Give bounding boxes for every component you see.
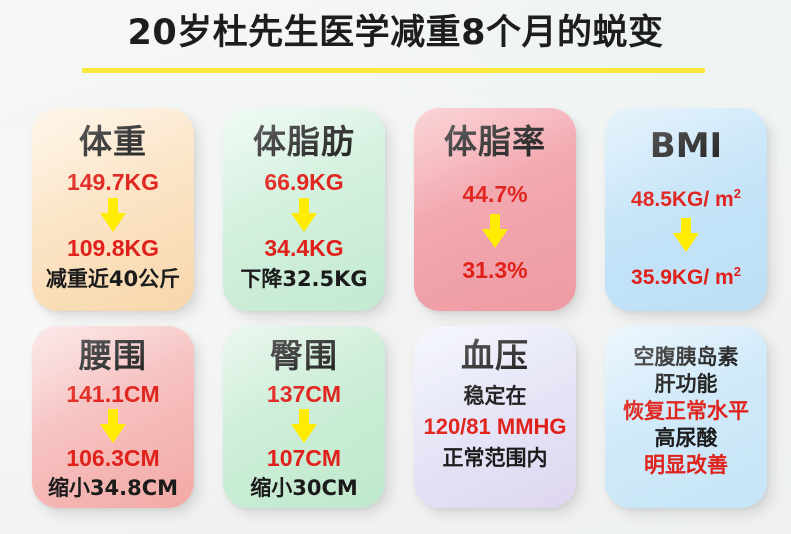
footnote-waist: 缩小34.8CM <box>48 475 178 501</box>
value-before-bmi: 48.5KG/ m2 <box>631 180 741 214</box>
value-after-waist: 106.3CM <box>66 444 159 472</box>
card-title-weight: 体重 <box>79 122 147 162</box>
value-after-bmi: 35.9KG/ m2 <box>631 258 741 292</box>
metrics-grid: 体重 149.7KG 109.8KG 减重近40公斤 体脂肪 66.9KG 34… <box>0 108 791 508</box>
labs-line-4: 高尿酸 <box>655 425 718 451</box>
blood-pressure-reading: 120/81 MMHG <box>423 413 566 441</box>
arrow-head <box>100 213 126 232</box>
value-after-bmi-exponent: 2 <box>734 264 741 279</box>
value-before-bmi-text: 48.5KG/ m <box>631 188 734 211</box>
blood-pressure-line-1: 稳定在 <box>464 383 527 409</box>
card-title-waist: 腰围 <box>79 336 147 376</box>
card-title-body-fat-mass: 体脂肪 <box>253 122 355 162</box>
arrow-head <box>673 233 699 252</box>
footnote-body-fat-mass: 下降32.5KG <box>240 266 367 292</box>
value-before-weight: 149.7KG <box>67 168 159 196</box>
footnote-hip: 缩小30CM <box>250 475 358 501</box>
card-title-bmi: BMI <box>650 126 722 166</box>
labs-line-2: 肝功能 <box>655 371 718 397</box>
page-header: 20岁杜先生医学减重8个月的蜕变 <box>0 0 791 58</box>
title-underline <box>82 68 705 73</box>
down-arrow-icon <box>100 409 126 443</box>
down-arrow-icon <box>100 198 126 232</box>
down-arrow-icon <box>291 198 317 232</box>
value-before-hip: 137CM <box>267 380 341 408</box>
value-before-body-fat-mass: 66.9KG <box>264 168 343 196</box>
metric-card-hip[interactable]: 臀围 137CM 107CM 缩小30CM <box>223 326 385 508</box>
blood-pressure-line-3: 正常范围内 <box>443 445 548 471</box>
value-before-waist: 141.1CM <box>66 380 159 408</box>
value-after-hip: 107CM <box>267 444 341 472</box>
arrow-head <box>291 213 317 232</box>
card-title-body-fat-rate: 体脂率 <box>444 122 546 162</box>
arrow-head <box>291 424 317 443</box>
down-arrow-icon <box>291 409 317 443</box>
footnote-weight: 减重近40公斤 <box>46 266 180 292</box>
metric-card-body-fat-mass[interactable]: 体脂肪 66.9KG 34.4KG 下降32.5KG <box>223 108 385 311</box>
metric-card-bmi[interactable]: BMI 48.5KG/ m2 35.9KG/ m2 <box>605 108 767 311</box>
card-title-hip: 臀围 <box>270 336 338 376</box>
labs-line-1: 空腹胰岛素 <box>634 344 739 370</box>
value-after-weight: 109.8KG <box>67 234 159 262</box>
metric-card-labs[interactable]: 空腹胰岛素 肝功能 恢复正常水平 高尿酸 明显改善 <box>605 326 767 508</box>
value-before-bmi-exponent: 2 <box>734 186 741 201</box>
card-title-blood-pressure: 血压 <box>461 336 529 376</box>
down-arrow-icon <box>482 214 508 248</box>
value-after-body-fat-rate: 31.3% <box>462 256 527 284</box>
value-after-body-fat-mass: 34.4KG <box>264 234 343 262</box>
down-arrow-icon <box>673 218 699 252</box>
labs-line-3: 恢复正常水平 <box>623 398 749 424</box>
metric-card-blood-pressure[interactable]: 血压 稳定在 120/81 MMHG 正常范围内 <box>414 326 576 508</box>
metric-card-body-fat-rate[interactable]: 体脂率 44.7% 31.3% <box>414 108 576 311</box>
arrow-head <box>100 424 126 443</box>
metric-card-waist[interactable]: 腰围 141.1CM 106.3CM 缩小34.8CM <box>32 326 194 508</box>
labs-line-5: 明显改善 <box>644 452 728 478</box>
arrow-head <box>482 229 508 248</box>
value-before-body-fat-rate: 44.7% <box>462 180 527 208</box>
metric-card-weight[interactable]: 体重 149.7KG 109.8KG 减重近40公斤 <box>32 108 194 311</box>
page-title: 20岁杜先生医学减重8个月的蜕变 <box>0 8 791 58</box>
value-after-bmi-text: 35.9KG/ m <box>631 266 734 289</box>
